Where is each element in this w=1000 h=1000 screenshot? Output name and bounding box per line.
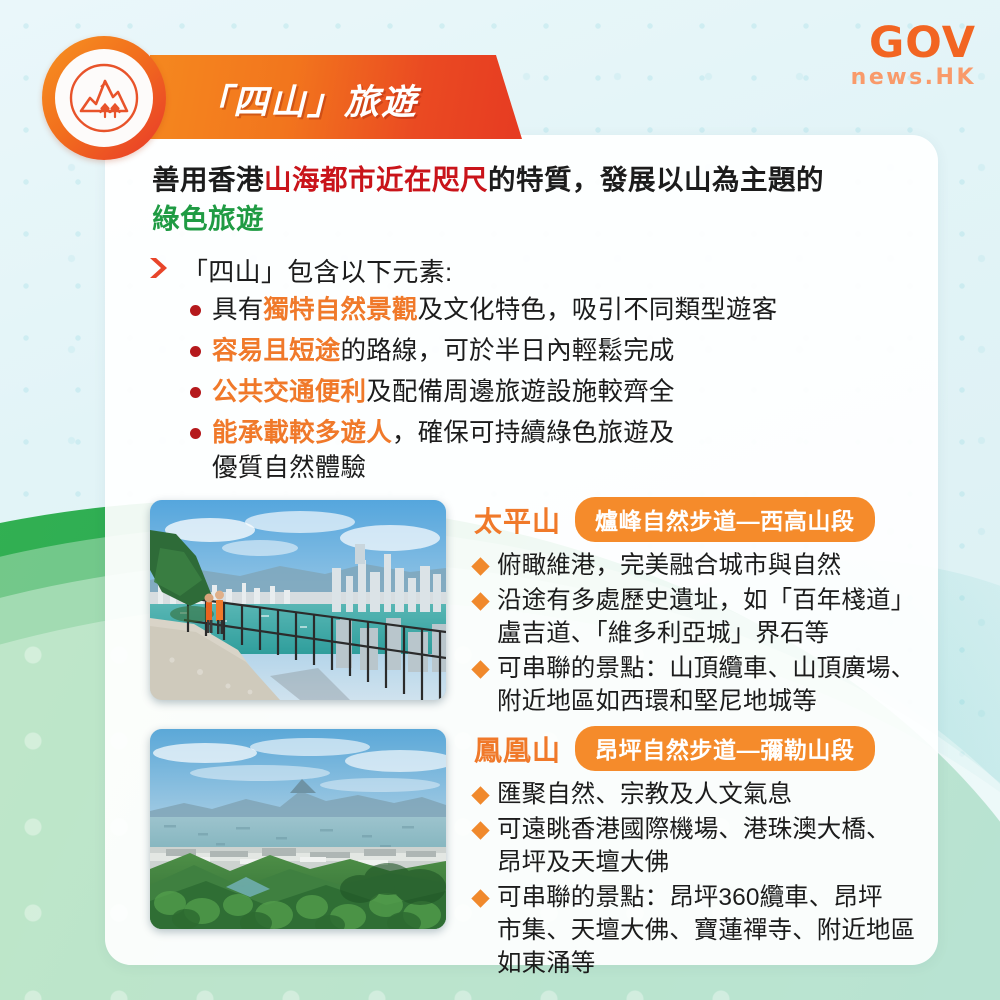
list-item-text: 俯瞰維港，完美融合城市與自然 xyxy=(497,549,841,582)
list-item: 沿途有多處歷史遺址，如「百年棧道」 盧吉道、「維多利亞城」界石等 xyxy=(474,584,1000,650)
list-item: 能承載較多遊人，確保可持續綠色旅遊及 優質自然體驗 xyxy=(190,416,950,484)
photo-lantau-view xyxy=(150,729,446,929)
list-item-text: 具有獨特自然景觀及文化特色，吸引不同類型遊客 xyxy=(212,293,777,327)
bullet-dot-icon xyxy=(190,387,201,398)
list-item: 可串聯的景點：山頂纜車、山頂廣場、 附近地區如西環和堅尼地城等 xyxy=(474,652,1000,718)
mountain-forest-glyph xyxy=(65,59,143,137)
list-item-text: 可串聯的景點：昂坪360纜車、昂坪 市集、天壇大佛、寶蓮禪寺、附近地區 如東涌等 xyxy=(497,881,915,980)
trail-badge: 爐峰自然步道—西高山段 xyxy=(575,497,875,542)
bullet-dot-icon xyxy=(190,346,201,357)
trail-badge: 昂坪自然步道—彌勒山段 xyxy=(575,726,875,771)
subtitle: 善用香港山海都市近在咫尺的特質，發展以山為主題的 綠色旅遊 xyxy=(152,160,922,238)
diamond-bullet-icon xyxy=(471,557,489,575)
bullet-emphasis: 獨特自然景觀 xyxy=(263,296,417,324)
bullet-emphasis: 能承載較多遊人 xyxy=(212,419,392,447)
subtitle-part-2: 的特質，發展以山為主題的 xyxy=(488,164,824,195)
list-item: 容易且短途的路線，可於半日內輕鬆完成 xyxy=(190,334,950,368)
mountain-name: 鳳凰山 xyxy=(474,729,561,769)
bullet-dot-icon xyxy=(190,428,201,439)
infographic-poster: GOV news.HK 「四山」旅遊 善用香港山海都市近在咫尺的特質，發展以山為… xyxy=(0,0,1000,1000)
diamond-bullet-icon xyxy=(471,592,489,610)
mountain-forest-icon xyxy=(42,36,166,160)
mountain-header: 鳳凰山 昂坪自然步道—彌勒山段 xyxy=(474,726,1000,771)
list-item: 具有獨特自然景觀及文化特色，吸引不同類型遊客 xyxy=(190,293,950,327)
bullet-emphasis: 容易且短途 xyxy=(212,337,341,365)
mountain-name: 太平山 xyxy=(474,500,561,540)
list-item: 可串聯的景點：昂坪360纜車、昂坪 市集、天壇大佛、寶蓮禪寺、附近地區 如東涌等 xyxy=(474,881,1000,980)
mountain-header: 太平山 爐峰自然步道—西高山段 xyxy=(474,497,1000,542)
bullet-emphasis: 公共交通便利 xyxy=(212,378,366,406)
list-item-text: 匯聚自然、宗教及人文氣息 xyxy=(497,778,792,811)
list-item-text: 容易且短途的路線，可於半日內輕鬆完成 xyxy=(212,334,675,368)
page-title: 「四山」旅遊 xyxy=(196,74,418,125)
mountain-info-taipingshan: 太平山 爐峰自然步道—西高山段 俯瞰維港，完美融合城市與自然 沿途有多處歷史遺址… xyxy=(474,497,1000,720)
diamond-bullet-icon xyxy=(471,821,489,839)
list-item-text: 公共交通便利及配備周邊旅遊設施較齊全 xyxy=(212,375,675,409)
govnews-logo-news: news.HK xyxy=(851,67,976,89)
subtitle-highlight-green: 綠色旅遊 xyxy=(152,203,264,234)
subtitle-part-1: 善用香港 xyxy=(152,164,264,195)
list-item: 公共交通便利及配備周邊旅遊設施較齊全 xyxy=(190,375,950,409)
list-item-text: 可串聯的景點：山頂纜車、山頂廣場、 附近地區如西環和堅尼地城等 xyxy=(497,652,915,718)
govnews-logo: GOV news.HK xyxy=(851,22,976,89)
list-item: 匯聚自然、宗教及人文氣息 xyxy=(474,778,1000,811)
list-item-text: 可遠眺香港國際機場、港珠澳大橋、 昂坪及天壇大佛 xyxy=(497,813,891,879)
diamond-bullet-icon xyxy=(471,889,489,907)
diamond-bullet-icon xyxy=(471,786,489,804)
mountain-forest-icon-inner xyxy=(55,49,153,147)
bullet-rest: 及配備周邊旅遊設施較齊全 xyxy=(366,378,674,406)
feature-bullet-list: 具有獨特自然景觀及文化特色，吸引不同類型遊客 容易且短途的路線，可於半日內輕鬆完… xyxy=(190,293,950,492)
chevron-right-icon xyxy=(148,256,174,285)
mountain-info-fungwongshan: 鳳凰山 昂坪自然步道—彌勒山段 匯聚自然、宗教及人文氣息 可遠眺香港國際機場、港… xyxy=(474,726,1000,982)
bullet-prefix: 具有 xyxy=(212,296,263,324)
list-item-text: 沿途有多處歷史遺址，如「百年棧道」 盧吉道、「維多利亞城」界石等 xyxy=(497,584,915,650)
list-item: 俯瞰維港，完美融合城市與自然 xyxy=(474,549,1000,582)
bullet-rest: 的路線，可於半日內輕鬆完成 xyxy=(341,337,675,365)
diamond-bullet-icon xyxy=(471,660,489,678)
subtitle-highlight-red: 山海都市近在咫尺 xyxy=(264,164,488,195)
bullet-dot-icon xyxy=(190,305,201,316)
govnews-logo-gov: GOV xyxy=(851,22,976,65)
list-item: 可遠眺香港國際機場、港珠澳大橋、 昂坪及天壇大佛 xyxy=(474,813,1000,879)
list-item-text: 能承載較多遊人，確保可持續綠色旅遊及 優質自然體驗 xyxy=(212,416,675,484)
list-heading-label: 「四山」包含以下元素: xyxy=(182,252,453,289)
photo-victoria-peak xyxy=(150,500,446,700)
bullet-rest: 及文化特色，吸引不同類型遊客 xyxy=(418,296,778,324)
list-heading: 「四山」包含以下元素: xyxy=(148,252,453,289)
